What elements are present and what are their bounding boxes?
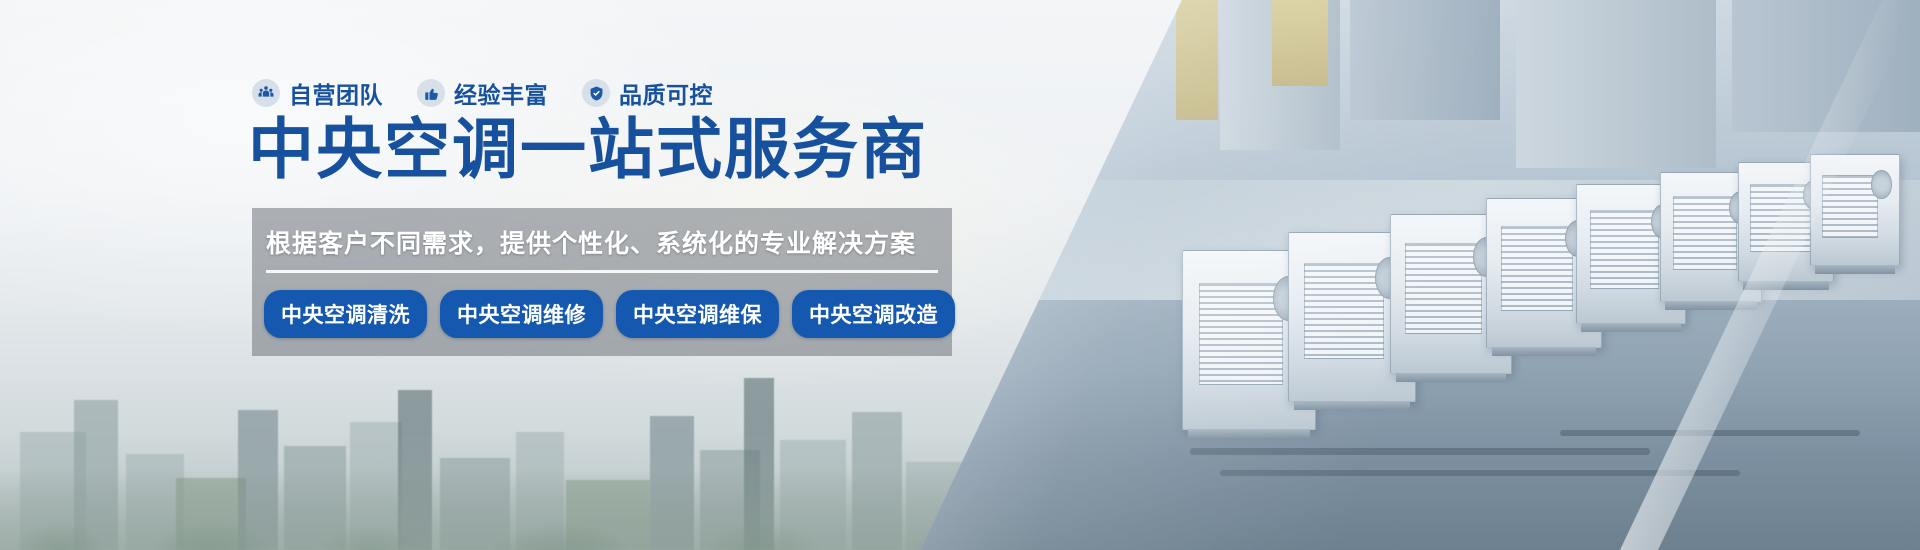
page-title: 中央空调一站式服务商 [248, 116, 928, 182]
feature-label: 品质可控 [619, 76, 713, 110]
subtitle-text: 根据客户不同需求，提供个性化、系统化的专业解决方案 [266, 224, 916, 260]
feature-label: 自营团队 [289, 76, 383, 110]
feature-item-quality: 品质可控 [582, 76, 713, 110]
team-icon [252, 79, 280, 107]
service-tag-repair[interactable]: 中央空调维修 [440, 290, 603, 338]
service-tag-renovation[interactable]: 中央空调改造 [792, 290, 955, 338]
info-panel: 根据客户不同需求，提供个性化、系统化的专业解决方案 中央空调清洗 中央空调维修 … [252, 208, 952, 356]
service-tag-cleaning[interactable]: 中央空调清洗 [264, 290, 427, 338]
feature-item-experience: 经验丰富 [417, 76, 548, 110]
service-tag-maintenance[interactable]: 中央空调维保 [616, 290, 779, 338]
shield-check-icon [582, 79, 610, 107]
feature-list: 自营团队 经验丰富 品质可控 [252, 76, 713, 110]
service-tag-list: 中央空调清洗 中央空调维修 中央空调维保 中央空调改造 [264, 290, 955, 338]
feature-item-team: 自营团队 [252, 76, 383, 110]
hero-content: 自营团队 经验丰富 品质可控 [248, 0, 968, 550]
panel-divider [266, 270, 938, 273]
hero-banner: 自营团队 经验丰富 品质可控 [0, 0, 1920, 550]
feature-label: 经验丰富 [454, 76, 548, 110]
thumbs-up-icon [417, 79, 445, 107]
